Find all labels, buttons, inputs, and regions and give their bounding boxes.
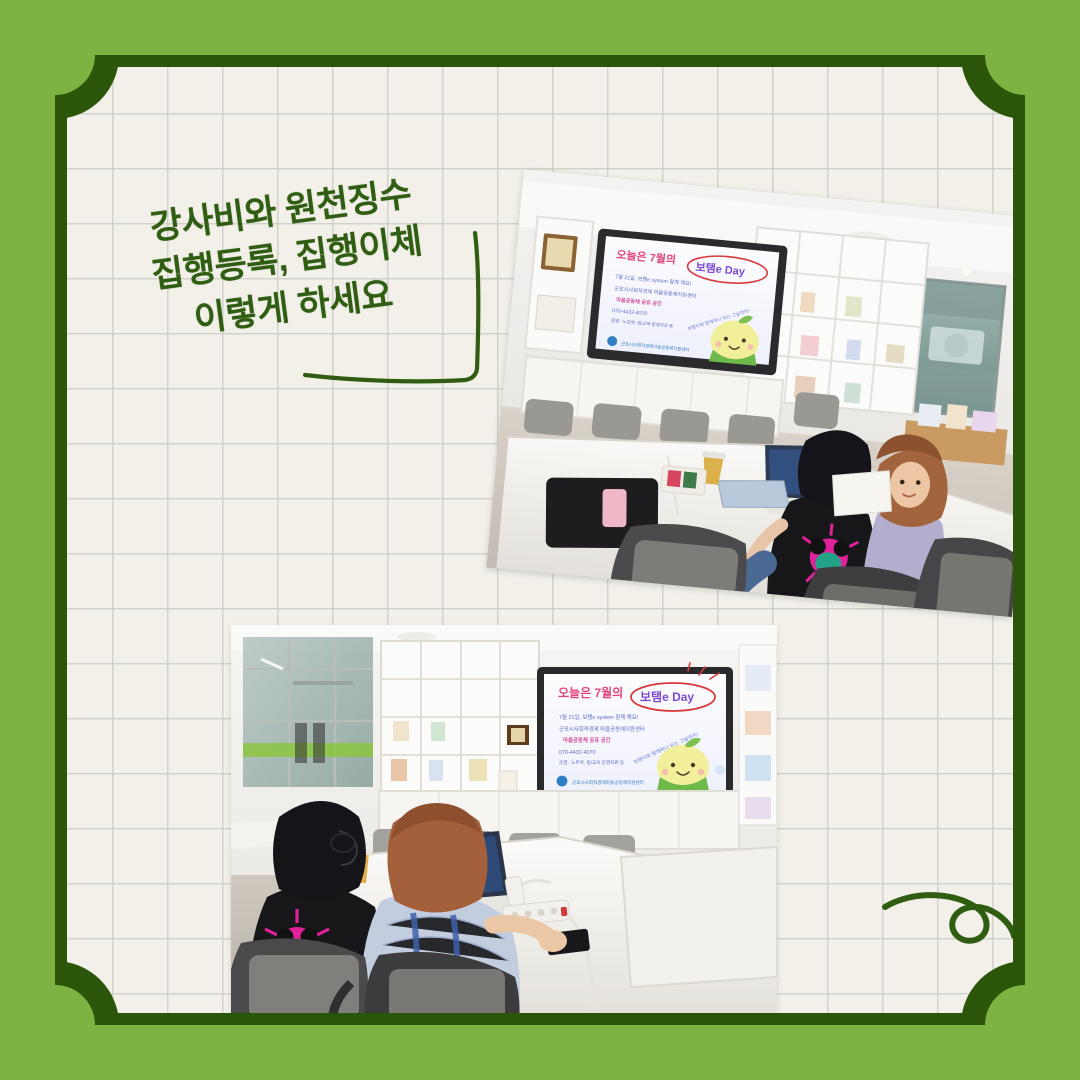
- frame-outline: [55, 55, 1025, 1025]
- card-news-canvas: 강사비와 원천징수 집행등록, 집행이체 이렇게 하세요: [0, 0, 1080, 1080]
- decorative-frame: [55, 55, 1025, 1025]
